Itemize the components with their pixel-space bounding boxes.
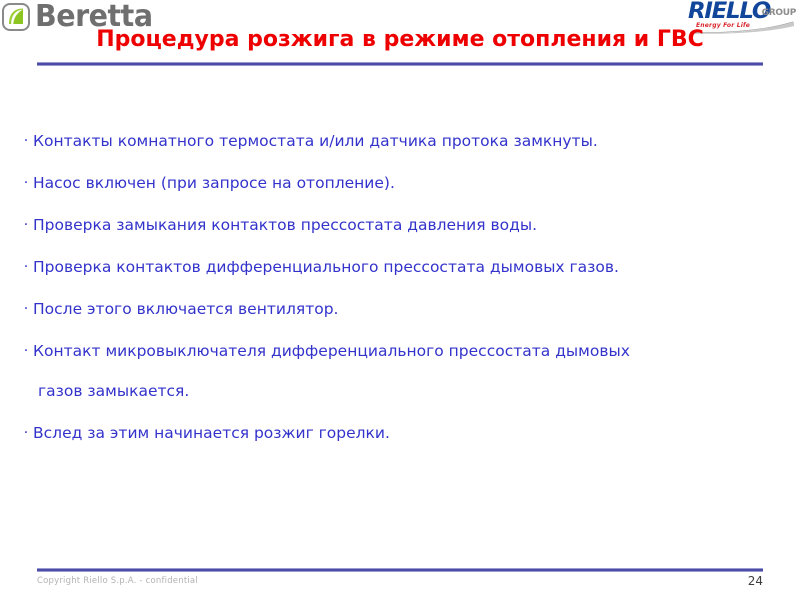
- bullet-icon: ·: [21, 172, 31, 194]
- footer-copyright: Copyright Riello S.p.A. - confidential: [37, 576, 198, 587]
- riello-group-label: GROUP: [762, 9, 796, 18]
- bullet-icon: ·: [21, 422, 31, 444]
- footer-divider: [37, 568, 763, 572]
- list-item-text: Контакты комнатного термостата и/или дат…: [33, 130, 782, 152]
- header-divider: [37, 62, 763, 66]
- bullet-icon: ·: [21, 214, 31, 236]
- bullet-icon: ·: [21, 256, 31, 278]
- bullet-icon: ·: [21, 298, 31, 320]
- list-item: · Насос включен (при запросе на отоплени…: [18, 172, 782, 194]
- slide-canvas: Beretta RIELLO GROUP Energy For Life Про…: [0, 0, 800, 600]
- list-item-text: Проверка контактов дифференциального пре…: [33, 256, 782, 278]
- list-item: · Контакт микровыключателя дифференциаль…: [18, 340, 782, 402]
- list-item: · Проверка замыкания контактов прессоста…: [18, 214, 782, 236]
- list-item-text: Контакт микровыключателя дифференциально…: [33, 340, 773, 362]
- list-item: · Вслед за этим начинается розжиг горелк…: [18, 422, 782, 444]
- list-item: · После этого включается вентилятор.: [18, 298, 782, 320]
- list-item: · Контакты комнатного термостата и/или д…: [18, 130, 782, 152]
- list-item-text-continued: газов замыкается.: [38, 380, 782, 402]
- list-item-text: Вслед за этим начинается розжиг горелки.: [33, 422, 782, 444]
- bullet-list: · Контакты комнатного термостата и/или д…: [18, 130, 782, 464]
- list-item-text: После этого включается вентилятор.: [33, 298, 782, 320]
- list-item-text: Насос включен (при запросе на отопление)…: [33, 172, 782, 194]
- bullet-icon: ·: [21, 340, 31, 362]
- list-item: · Проверка контактов дифференциального п…: [18, 256, 782, 278]
- riello-wordmark: RIELLO: [688, 1, 770, 23]
- bullet-icon: ·: [21, 130, 31, 152]
- list-item-text: Проверка замыкания контактов прессостата…: [33, 214, 782, 236]
- page-number: 24: [748, 574, 763, 588]
- page-title: Процедура розжига в режиме отопления и Г…: [0, 26, 800, 54]
